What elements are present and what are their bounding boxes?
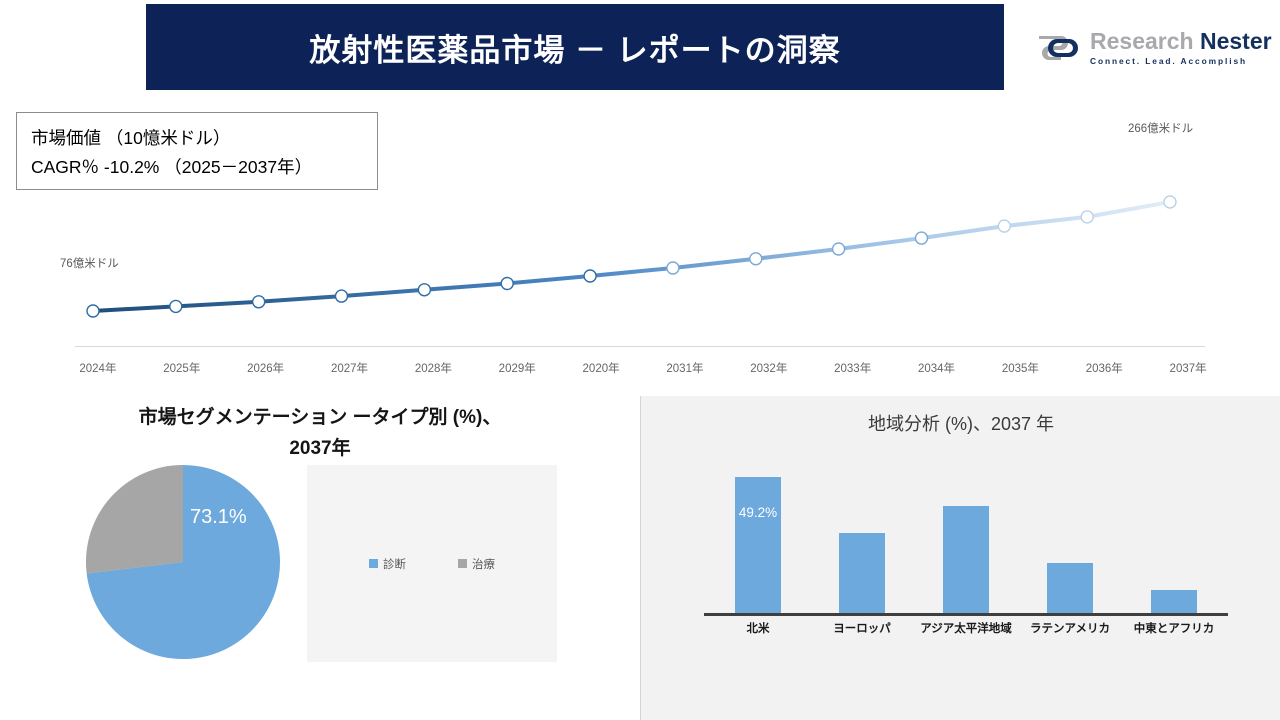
market-value-line-chart: 76億米ドル 266億米ドル bbox=[0, 95, 1280, 385]
segmentation-legend-panel: 診断治療 bbox=[307, 465, 557, 662]
bar-rect bbox=[1151, 590, 1197, 614]
pie-value-label: 73.1% bbox=[190, 506, 247, 529]
bar-column: 49.2% bbox=[735, 461, 781, 614]
legend-item[interactable]: 治療 bbox=[458, 556, 495, 572]
bar-rect: 49.2% bbox=[735, 477, 781, 614]
segmentation-pie-chart bbox=[85, 464, 281, 660]
year-tick-label: 2032年 bbox=[727, 360, 811, 380]
year-tick-label: 2026年 bbox=[224, 360, 308, 380]
logo-name-primary: Research bbox=[1090, 28, 1194, 54]
header-banner: 放射性医薬品市場 － レポートの洞察 bbox=[146, 4, 1004, 90]
year-tick-label: 2036年 bbox=[1062, 360, 1146, 380]
legend-swatch-icon bbox=[369, 559, 378, 568]
line-data-point bbox=[501, 278, 513, 290]
logo-mark-icon bbox=[1035, 33, 1081, 63]
bar-column bbox=[943, 461, 989, 614]
segmentation-title: 市場セグメンテーション ータイプ別 (%)、 2037年 bbox=[24, 402, 616, 464]
infographic-root: 放射性医薬品市場 － レポートの洞察 Research Nester Conne… bbox=[0, 0, 1280, 720]
pie-plot bbox=[85, 464, 281, 660]
page-title: 放射性医薬品市場 － レポートの洞察 bbox=[309, 25, 840, 70]
year-tick-label: 2027年 bbox=[308, 360, 392, 380]
bar-column bbox=[839, 461, 885, 614]
bar-category-label: アジア太平洋地域 bbox=[914, 620, 1018, 636]
segmentation-title-line2: 2037年 bbox=[289, 438, 350, 459]
bar-category-label: 北米 bbox=[706, 620, 810, 636]
logo-text-block: Research Nester Connect. Lead. Accomplis… bbox=[1090, 30, 1272, 65]
legend-item[interactable]: 診断 bbox=[369, 556, 406, 572]
brand-logo: Research Nester Connect. Lead. Accomplis… bbox=[1035, 22, 1260, 74]
year-tick-label: 2031年 bbox=[643, 360, 727, 380]
line-chart-year-axis: 2024年2025年2026年2027年2028年2029年2020年2031年… bbox=[56, 360, 1230, 380]
line-data-point bbox=[584, 270, 596, 282]
bar-category-label: ヨーロッパ bbox=[810, 620, 914, 636]
line-data-point bbox=[1081, 211, 1093, 223]
line-data-point bbox=[750, 253, 762, 265]
bar-column bbox=[1151, 461, 1197, 614]
year-tick-label: 2024年 bbox=[56, 360, 140, 380]
pie-slice bbox=[86, 465, 183, 574]
year-tick-label: 2028年 bbox=[391, 360, 475, 380]
line-data-point bbox=[170, 300, 182, 312]
regional-bar-category-axis: 北米ヨーロッパアジア太平洋地域ラテンアメリカ中東とアフリカ bbox=[691, 620, 1243, 640]
regional-bars-plot: 49.2% bbox=[706, 461, 1226, 614]
legend-swatch-icon bbox=[458, 559, 467, 568]
bar-rect bbox=[943, 506, 989, 614]
year-tick-label: 2033年 bbox=[811, 360, 895, 380]
year-tick-label: 2029年 bbox=[475, 360, 559, 380]
regional-analysis-section: 地域分析 (%)、2037 年 49.2% 北米ヨーロッパアジア太平洋地域ラテン… bbox=[640, 396, 1280, 720]
legend-label: 治療 bbox=[472, 556, 495, 572]
segmentation-section: 市場セグメンテーション ータイプ別 (%)、 2037年 73.1% 診断治療 … bbox=[0, 396, 640, 720]
segmentation-legend: 診断治療 bbox=[307, 556, 557, 572]
year-tick-label: 2020年 bbox=[559, 360, 643, 380]
line-data-point bbox=[1164, 196, 1176, 208]
bar-rect bbox=[839, 533, 885, 614]
line-chart-plot bbox=[0, 95, 1280, 385]
line-data-point bbox=[833, 243, 845, 255]
line-data-point bbox=[253, 296, 265, 308]
year-tick-label: 2037年 bbox=[1146, 360, 1230, 380]
year-tick-label: 2035年 bbox=[978, 360, 1062, 380]
bar-rect bbox=[1047, 563, 1093, 614]
line-data-point bbox=[667, 262, 679, 274]
legend-label: 診断 bbox=[383, 556, 406, 572]
bar-category-label: ラテンアメリカ bbox=[1018, 620, 1122, 636]
bar-value-label: 49.2% bbox=[735, 505, 781, 520]
logo-wordmark: Research Nester bbox=[1090, 30, 1272, 53]
bar-category-label: 中東とアフリカ bbox=[1122, 620, 1226, 636]
line-data-point bbox=[87, 305, 99, 317]
logo-name-secondary: Nester bbox=[1200, 28, 1272, 54]
year-tick-label: 2034年 bbox=[895, 360, 979, 380]
logo-tagline: Connect. Lead. Accomplish bbox=[1090, 57, 1272, 65]
regional-bar-baseline bbox=[704, 613, 1228, 616]
regional-analysis-title: 地域分析 (%)、2037 年 bbox=[641, 410, 1280, 436]
line-data-point bbox=[336, 290, 348, 302]
line-data-point bbox=[418, 284, 430, 296]
year-tick-label: 2025年 bbox=[140, 360, 224, 380]
bar-column bbox=[1047, 461, 1093, 614]
segmentation-title-line1: 市場セグメンテーション ータイプ別 (%)、 bbox=[139, 407, 502, 428]
line-data-point bbox=[998, 220, 1010, 232]
line-data-point bbox=[916, 232, 928, 244]
